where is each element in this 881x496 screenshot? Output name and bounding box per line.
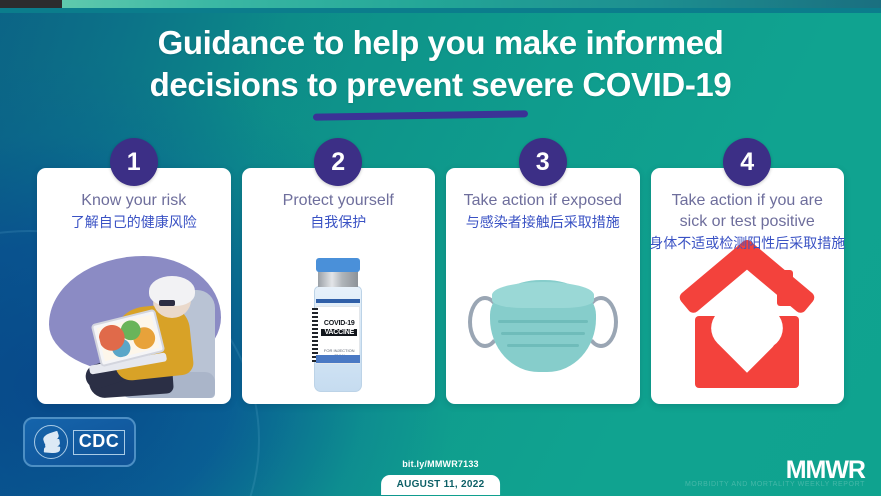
vaccine-vial-icon: COVID-19 VACCINE FOR INJECTION ONLY	[242, 248, 436, 398]
top-bar-dark-segment	[0, 0, 62, 8]
card-translation: 自我保护	[242, 213, 436, 231]
card-number-badge: 4	[723, 138, 771, 186]
mmwr-infographic-slide: Guidance to help you make informed decis…	[0, 0, 881, 496]
card-translation: 与感染者接触后采取措施	[446, 213, 640, 231]
cdc-logo-text: CDC	[79, 431, 120, 451]
vial-label-line2: VACCINE	[321, 329, 357, 336]
title-underline-swash	[313, 110, 528, 120]
surgical-mask-icon	[446, 248, 640, 398]
house-with-heart-icon	[651, 248, 845, 398]
card-protect-yourself[interactable]: 2 Protect yourself 自我保护 COVID-19 VACCINE…	[242, 168, 436, 404]
card-take-action-if-exposed[interactable]: 3 Take action if exposed 与感染者接触后采取措施	[446, 168, 640, 404]
publication-date-badge: AUGUST 11, 2022	[381, 475, 501, 495]
vial-label-line1: COVID-19	[321, 320, 357, 327]
hhs-seal-icon	[34, 425, 68, 459]
card-know-your-risk[interactable]: 1 Know your risk 了解自己的健康风险	[37, 168, 231, 404]
card-heading: Take action if exposed	[446, 190, 640, 211]
top-bar-gradient-segment	[62, 0, 881, 8]
card-heading: Protect yourself	[242, 190, 436, 211]
title-line-2: decisions to prevent severe COVID-19	[0, 64, 881, 106]
card-take-action-if-sick[interactable]: 4 Take action if you are sick or test po…	[651, 168, 845, 404]
card-heading: Take action if you are sick or test posi…	[651, 190, 845, 232]
guidance-cards: 1 Know your risk 了解自己的健康风险 2 Protect y	[37, 168, 844, 404]
bitly-link[interactable]: bit.ly/MMWR7133	[0, 459, 881, 469]
card-number-badge: 1	[110, 138, 158, 186]
card-translation: 了解自己的健康风险	[37, 213, 231, 231]
cdc-wordmark: CDC	[73, 430, 126, 455]
card-heading: Know your risk	[37, 190, 231, 211]
top-bar-underline	[0, 8, 881, 13]
mmwr-wordmark: MMWR	[786, 458, 865, 483]
card-number-badge: 2	[314, 138, 362, 186]
card-number-badge: 3	[519, 138, 567, 186]
card-translation: 身体不适或检测阳性后采取措施	[613, 234, 881, 252]
person-reading-laptop-icon	[37, 248, 231, 398]
page-title: Guidance to help you make informed decis…	[0, 22, 881, 106]
mmwr-subtitle: MORBIDITY AND MORTALITY WEEKLY REPORT	[685, 481, 865, 488]
top-accent-bar	[0, 0, 881, 13]
title-line-1: Guidance to help you make informed	[0, 22, 881, 64]
